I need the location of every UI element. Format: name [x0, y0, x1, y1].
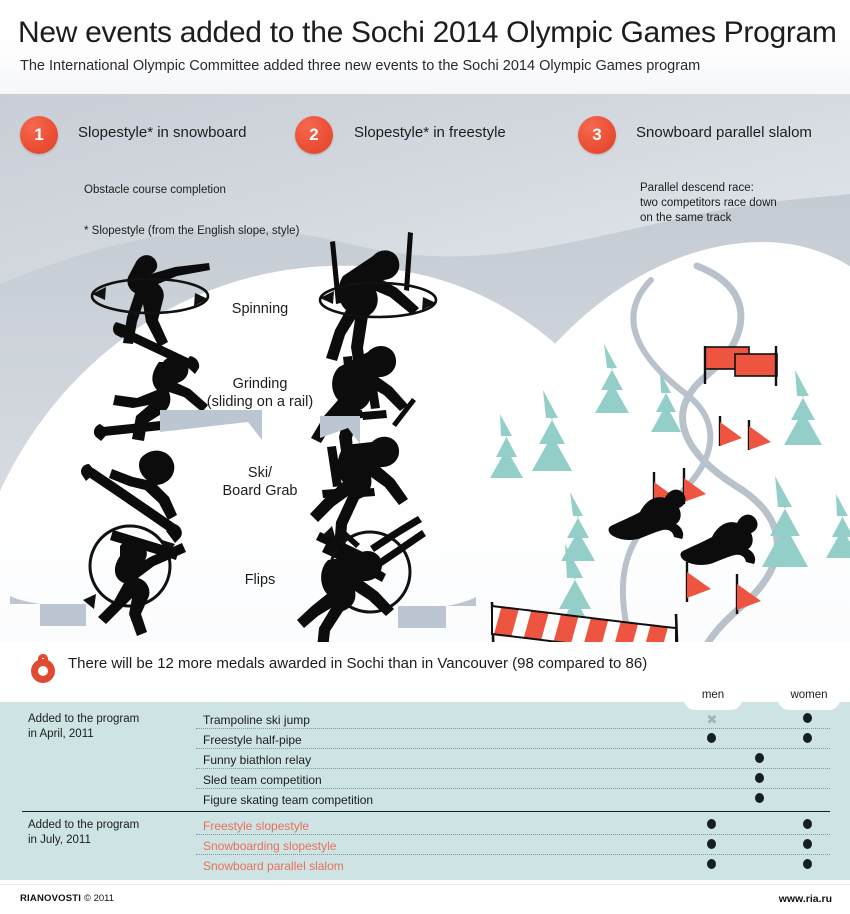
- table-row-label: Snowboarding slopestyle: [203, 839, 336, 853]
- cell-dot-women: [803, 713, 812, 723]
- table-row-label: Freestyle slopestyle: [203, 819, 309, 833]
- row-rule: [196, 834, 830, 835]
- event-number-2: 2: [295, 116, 333, 154]
- table-row-label: Sled team competition: [203, 773, 322, 787]
- cell-dot-mixed: [755, 773, 764, 783]
- cell-dot-women: [803, 839, 812, 849]
- cell-dot-men: [707, 819, 716, 829]
- group-note-july: Added to the program in July, 2011: [28, 818, 139, 848]
- cell-dot-men: [707, 733, 716, 743]
- page-title: New events added to the Sochi 2014 Olymp…: [18, 16, 837, 50]
- group-note-april: Added to the program in April, 2011: [28, 712, 139, 742]
- site-url[interactable]: www.ria.ru: [779, 893, 832, 905]
- brand-copyright: © 2011: [84, 893, 114, 904]
- event-number-1: 1: [20, 116, 58, 154]
- event-label-3: Snowboard parallel slalom: [636, 124, 812, 141]
- page-subtitle: The International Olympic Committee adde…: [20, 58, 700, 74]
- cell-dot-women: [803, 819, 812, 829]
- row-rule: [196, 748, 830, 749]
- events-table: men women Added to the program in April,…: [0, 688, 850, 880]
- event-bullet-3[interactable]: 3: [578, 116, 616, 154]
- table-row-label: Trampoline ski jump: [203, 713, 310, 727]
- trick-label-grab: Ski/ Board Grab: [175, 464, 345, 500]
- infographic-page: New events added to the Sochi 2014 Olymp…: [0, 0, 850, 914]
- brand-logo: RIANOVOSTI © 2011: [20, 893, 114, 904]
- col-header-women: women: [779, 689, 839, 701]
- cell-dot-mixed: [755, 753, 764, 763]
- row-rule: [196, 788, 830, 789]
- cell-dot-women: [803, 733, 812, 743]
- obstacle-note: Obstacle course completion: [84, 183, 226, 198]
- footer-divider: [0, 884, 850, 885]
- cell-dot-mixed: [755, 793, 764, 803]
- cell-dot-men: [707, 859, 716, 869]
- slopestyle-footnote: * Slopestyle (from the English slope, st…: [84, 224, 299, 239]
- trick-label-spinning: Spinning: [175, 300, 345, 318]
- brand-name: RIANOVOSTI: [20, 893, 81, 904]
- cell-dot-men: [707, 839, 716, 849]
- medal-icon: [28, 652, 58, 684]
- parallel-note: Parallel descend race: two competitors r…: [640, 181, 777, 227]
- event-bullet-1[interactable]: 1: [20, 116, 58, 154]
- table-row-label: Snowboard parallel slalom: [203, 859, 344, 873]
- table-row-label: Figure skating team competition: [203, 793, 373, 807]
- snow-scene-svg: [0, 94, 850, 642]
- event-label-1: Slopestyle* in snowboard: [78, 124, 246, 141]
- event-number-3: 3: [578, 116, 616, 154]
- cell-x-men: ✖: [706, 714, 718, 726]
- trick-label-grinding: Grinding (sliding on a rail): [175, 375, 345, 411]
- table-row-label: Freestyle half-pipe: [203, 733, 302, 747]
- row-rule: [196, 854, 830, 855]
- group-divider: [22, 811, 830, 812]
- row-rule: [196, 768, 830, 769]
- cell-dot-women: [803, 859, 812, 869]
- row-rule: [196, 728, 830, 729]
- table-row-label: Funny biathlon relay: [203, 753, 311, 767]
- event-label-2: Slopestyle* in freestyle: [354, 124, 506, 141]
- trick-label-flips: Flips: [175, 571, 345, 589]
- event-bullet-2[interactable]: 2: [295, 116, 333, 154]
- col-header-men: men: [683, 689, 743, 701]
- illustration-stage: 1 Slopestyle* in snowboard 2 Slopestyle*…: [0, 94, 850, 642]
- medal-text: There will be 12 more medals awarded in …: [68, 655, 647, 672]
